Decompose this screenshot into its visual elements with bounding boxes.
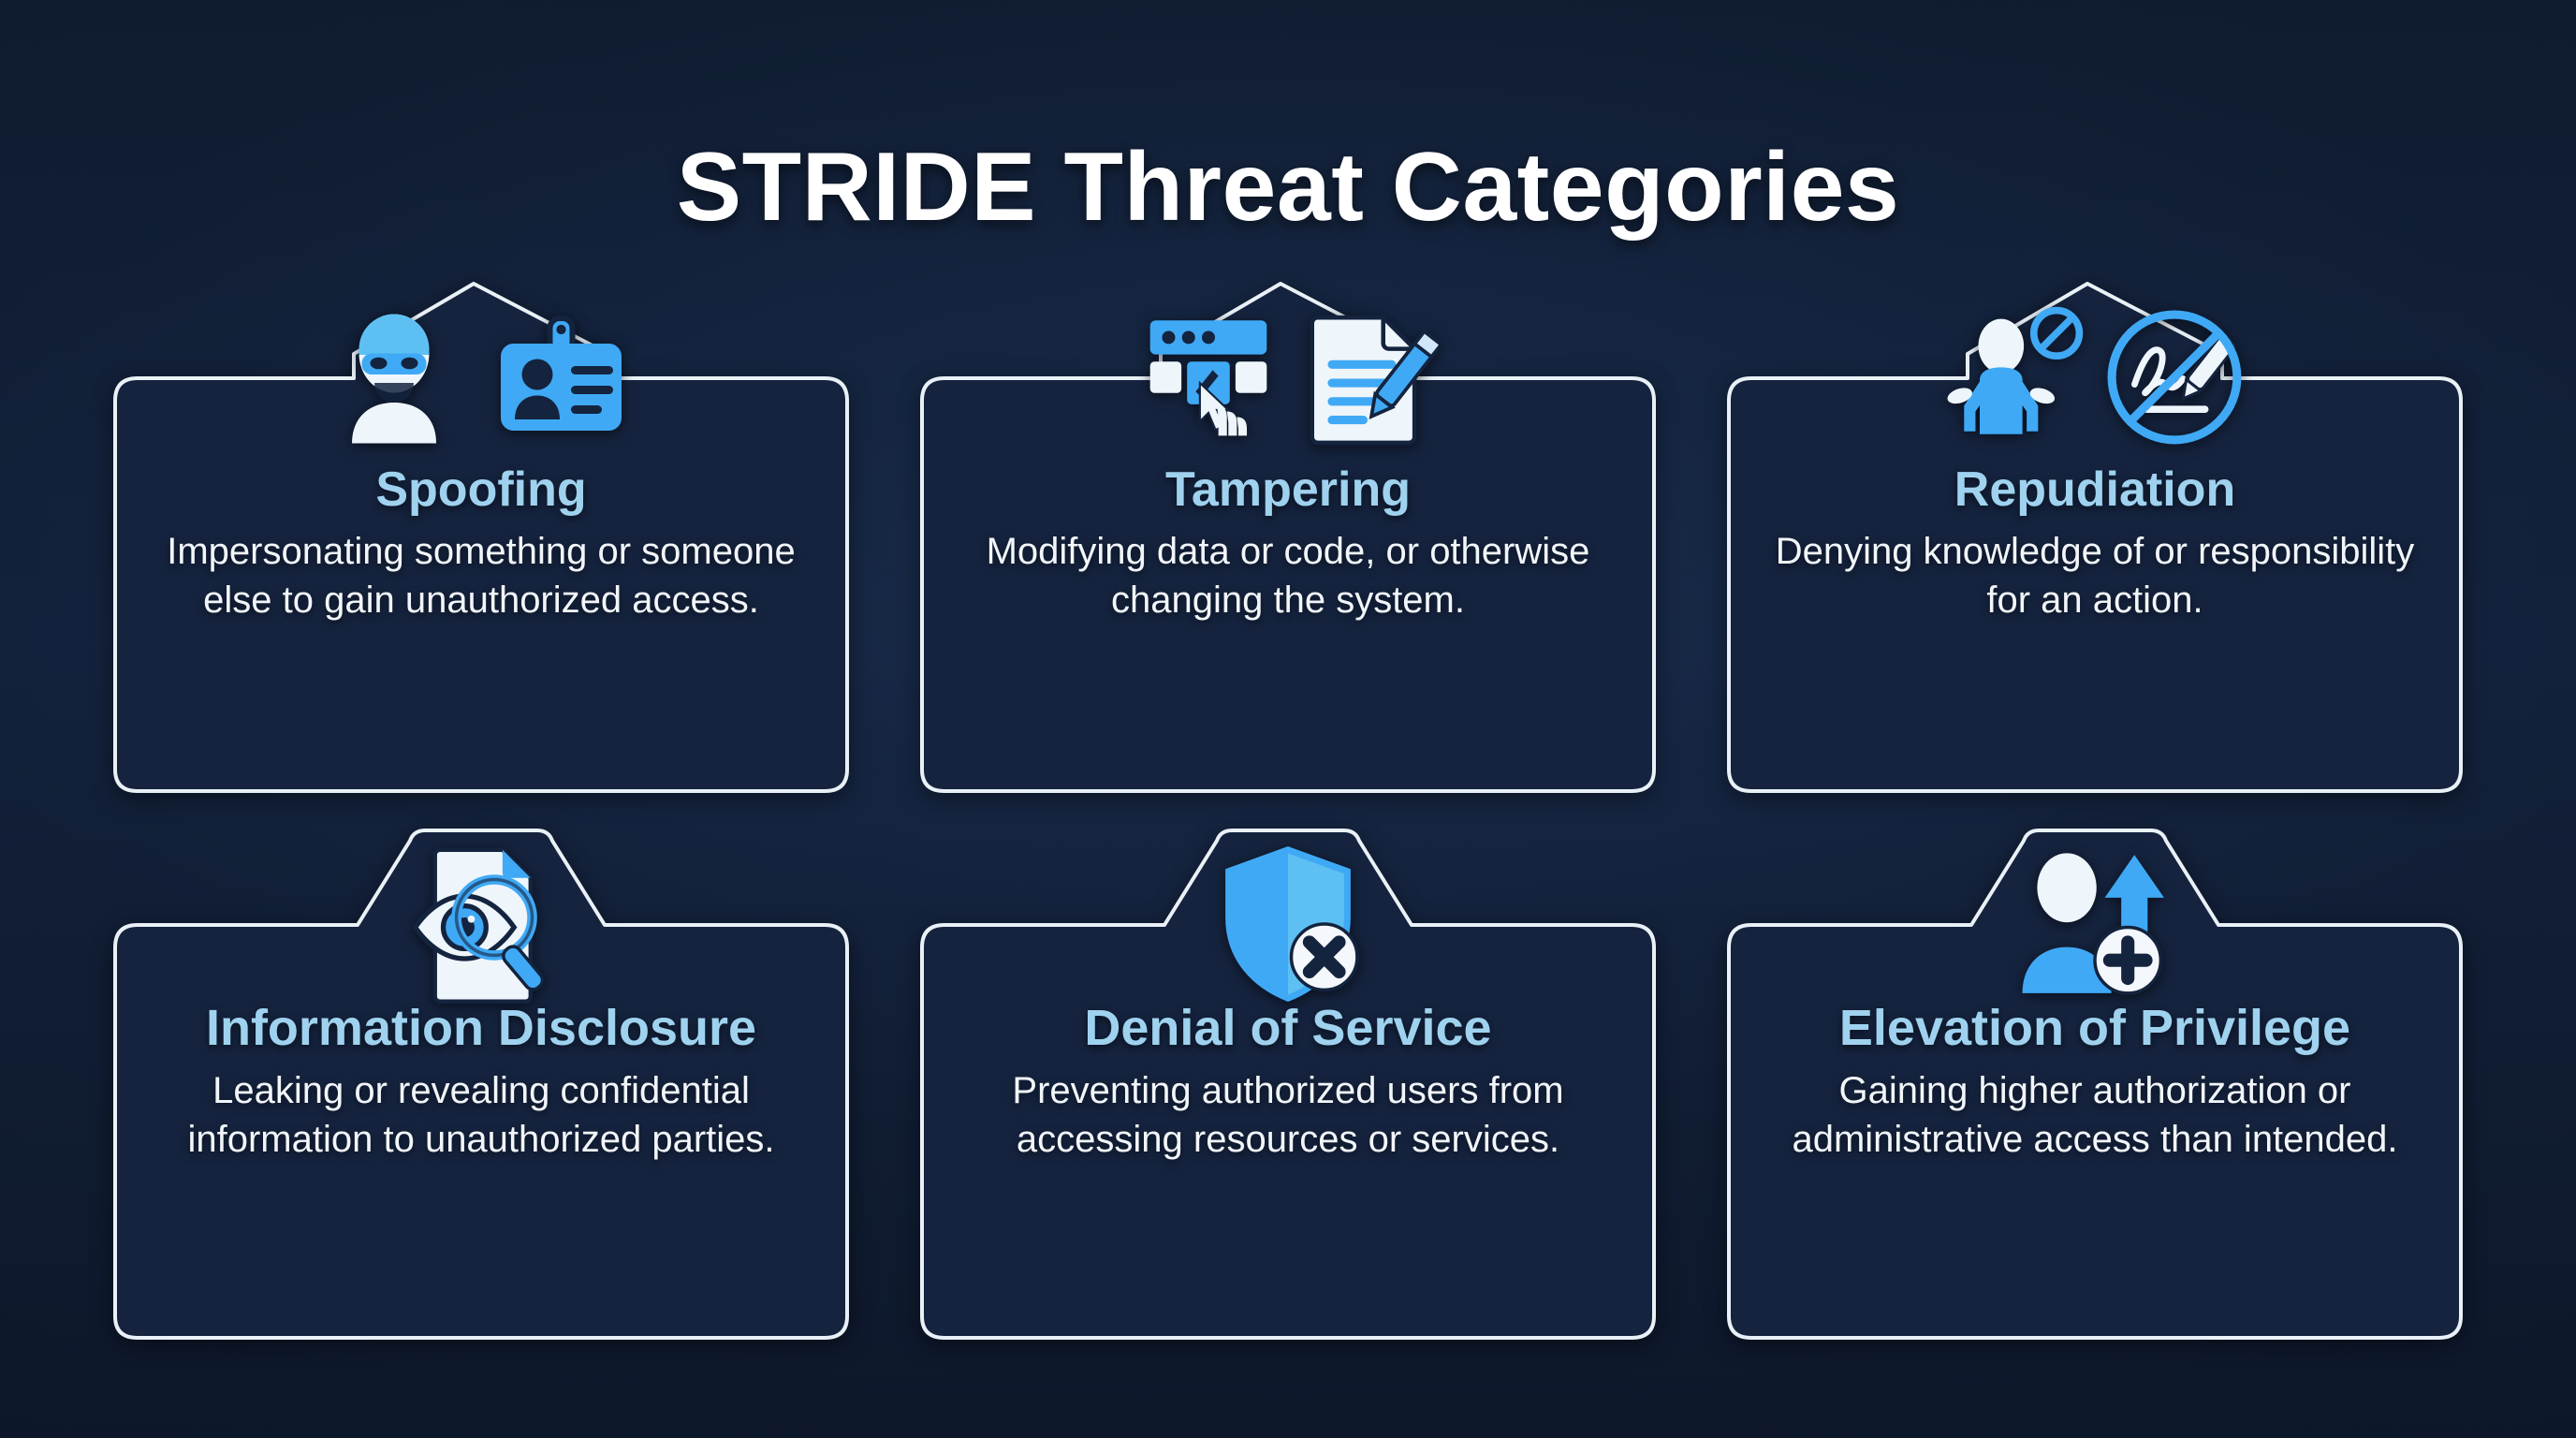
card-text: Elevation of Privilege Gaining higher au… (1760, 1002, 2430, 1324)
card-title: Elevation of Privilege (1839, 1002, 2350, 1055)
card-text: Repudiation Denying knowledge of or resp… (1760, 464, 2430, 777)
card-text: Information Disclosure Leaking or reveal… (146, 1002, 816, 1324)
card-description: Denying knowledge of or responsibility f… (1767, 527, 2422, 624)
card-description: Modifying data or code, or otherwise cha… (960, 527, 1616, 624)
card-title: Tampering (1165, 464, 1411, 516)
card-title: Repudiation (1954, 464, 2235, 516)
card-text: Denial of Service Preventing authorized … (953, 1002, 1623, 1324)
card-description: Leaking or revealing confidential inform… (154, 1066, 809, 1164)
page-title: STRIDE Threat Categories (0, 139, 2576, 236)
card-description: Preventing authorized users from accessi… (960, 1066, 1616, 1164)
threat-card-tampering[interactable]: Tampering Modifying data or code, or oth… (919, 281, 1657, 794)
card-text: Tampering Modifying data or code, or oth… (953, 464, 1623, 777)
threat-category-grid: Spoofing Impersonating something or some… (112, 281, 2464, 1386)
threat-card-elevation-of-privilege[interactable]: Elevation of Privilege Gaining higher au… (1726, 828, 2464, 1341)
threat-card-denial-of-service[interactable]: Denial of Service Preventing authorized … (919, 828, 1657, 1341)
card-title: Spoofing (375, 464, 586, 516)
card-title: Information Disclosure (206, 1002, 756, 1055)
card-text: Spoofing Impersonating something or some… (146, 464, 816, 777)
threat-card-spoofing[interactable]: Spoofing Impersonating something or some… (112, 281, 850, 794)
card-description: Impersonating something or someone else … (154, 527, 809, 624)
threat-card-information-disclosure[interactable]: Information Disclosure Leaking or reveal… (112, 828, 850, 1341)
card-title: Denial of Service (1084, 1002, 1491, 1055)
threat-card-repudiation[interactable]: Repudiation Denying knowledge of or resp… (1726, 281, 2464, 794)
card-description: Gaining higher authorization or administ… (1767, 1066, 2422, 1164)
